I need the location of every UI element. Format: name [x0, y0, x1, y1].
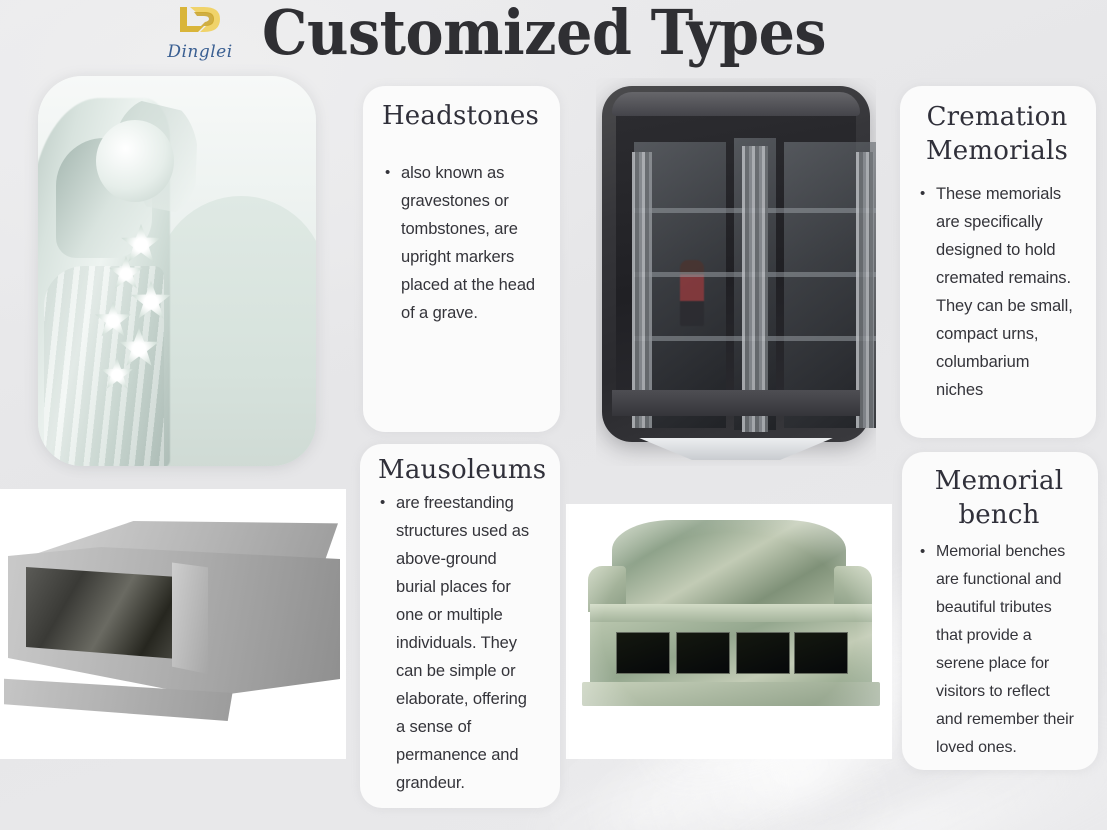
list-item: Memorial benches are functional and beau…: [936, 538, 1078, 762]
card-mausoleums: Mausoleums are freestanding structures u…: [360, 444, 560, 808]
poster-canvas: Dinglei Customized Types: [0, 0, 1107, 830]
card-title-headstones: Headstones: [381, 100, 540, 133]
list-item: also known as gravestones or tombstones,…: [401, 159, 540, 327]
headstone-face: [156, 196, 316, 466]
columbarium-cap: [612, 92, 860, 116]
columbarium-plinth: [626, 438, 846, 460]
page-title: Customized Types: [262, 0, 826, 68]
mausoleum-crypt-photo: [0, 489, 346, 759]
card-cremation-memorials: Cremation Memorials These memorials are …: [900, 86, 1096, 438]
reflected-worker-figure: [680, 260, 704, 326]
angel-headstone-photo: [38, 76, 316, 466]
card-bullets-memorial-bench: Memorial benches are functional and beau…: [920, 538, 1078, 762]
memorial-bench-photo: [566, 504, 892, 759]
angel-head: [96, 120, 174, 202]
fluted-column: [856, 152, 874, 428]
cremation-columbarium-photo: [596, 78, 876, 466]
poster-header: Dinglei Customized Types: [0, 0, 1107, 80]
card-bullets-mausoleums: are freestanding structures used as abov…: [378, 489, 540, 797]
card-title-mausoleums: Mausoleums: [378, 454, 540, 487]
brand-name: Dinglei: [150, 42, 250, 62]
card-title-cremation-memorials: Cremation Memorials: [918, 100, 1076, 168]
columbarium-structure: [602, 86, 870, 442]
columbarium-base: [612, 390, 860, 416]
card-bullets-cremation-memorials: These memorials are specifically designe…: [918, 180, 1076, 404]
mausoleum-pillar: [172, 555, 208, 679]
card-bullets-headstones: also known as gravestones or tombstones,…: [381, 159, 540, 327]
list-item: These memorials are specifically designe…: [936, 180, 1076, 404]
fluted-column: [632, 152, 652, 428]
brand-logo: Dinglei: [150, 4, 250, 62]
bench-photo-vignette: [566, 504, 892, 759]
mausoleum-black-panel: [26, 563, 178, 663]
ld-monogram-logo-icon: [150, 4, 250, 41]
list-item: are freestanding structures used as abov…: [396, 489, 540, 797]
card-headstones: Headstones also known as gravestones or …: [363, 86, 560, 432]
columbarium-interior: [616, 112, 856, 408]
card-title-memorial-bench: Memorial bench: [920, 464, 1078, 532]
card-memorial-bench: Memorial bench Memorial benches are func…: [902, 452, 1098, 770]
